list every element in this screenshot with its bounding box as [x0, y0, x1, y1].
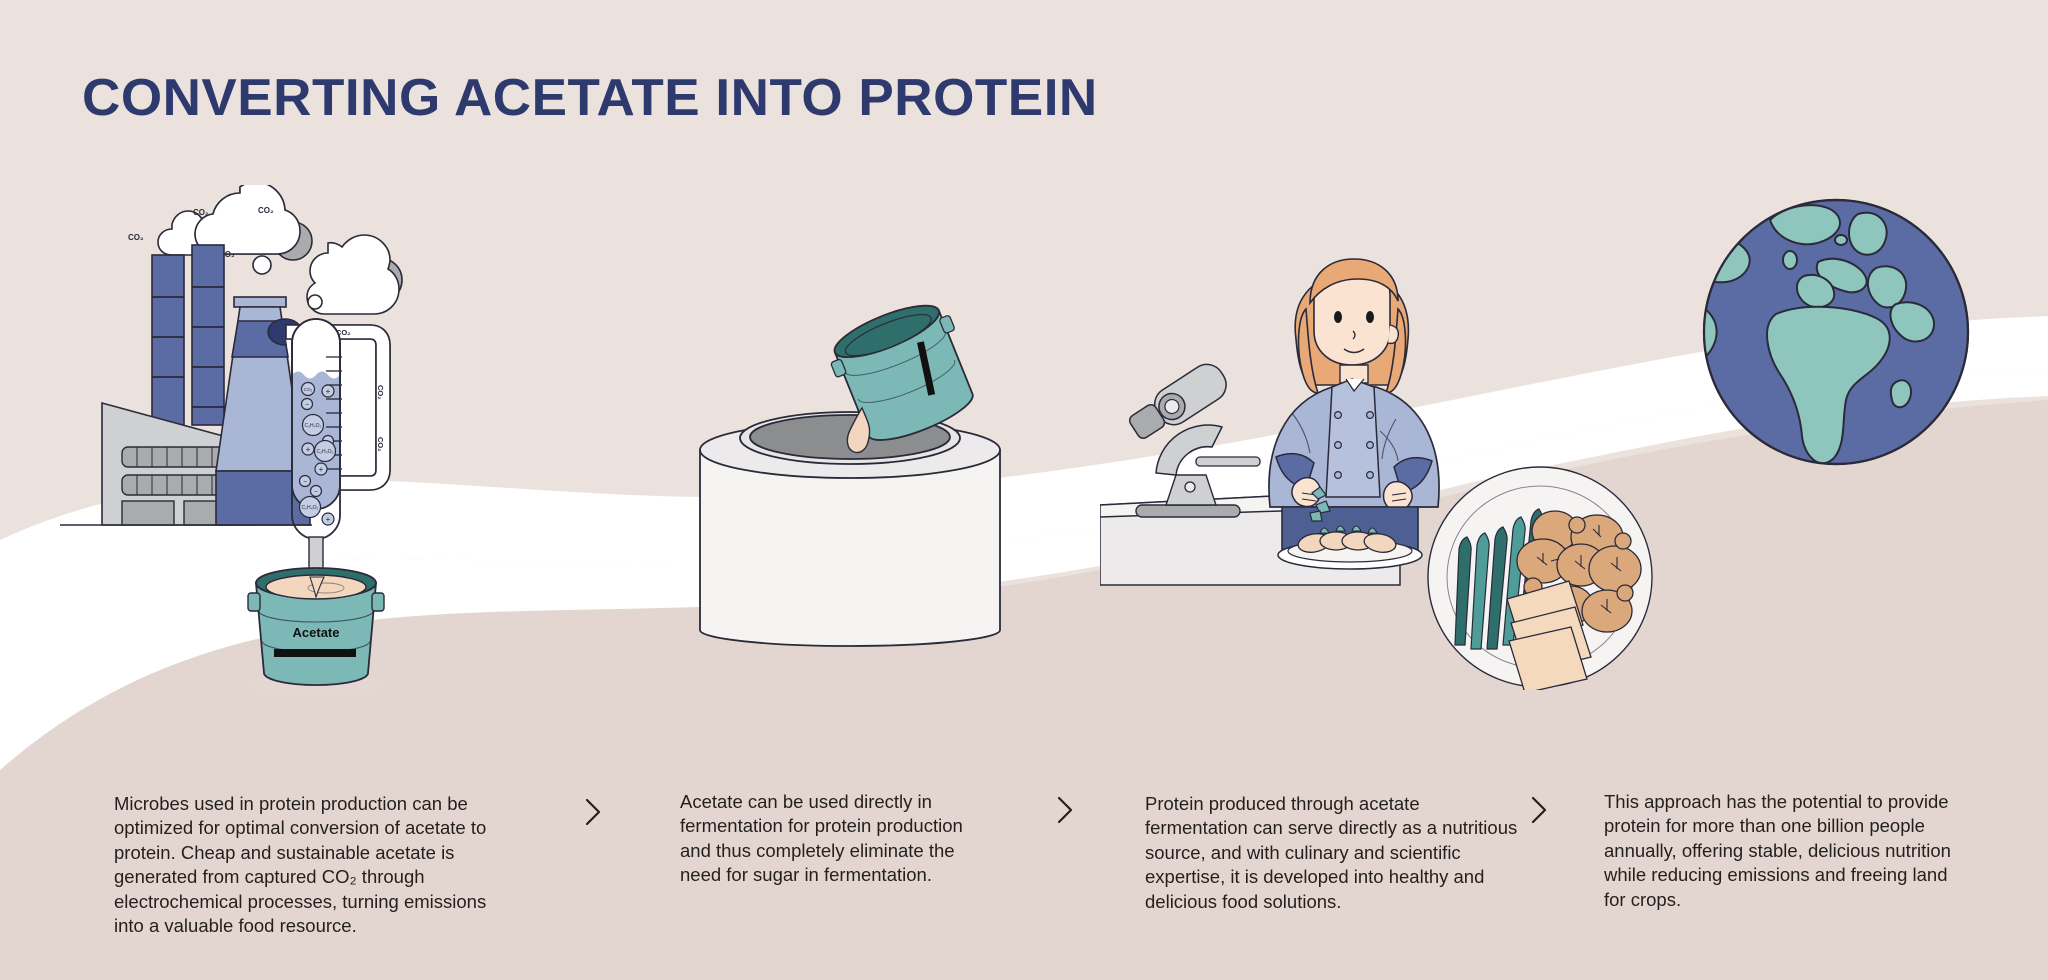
caption-step-4: This approach has the potential to provi… — [1604, 790, 1966, 912]
electrolysis-test-tube: CO₂ − + C₂H₄O₂ − + C₂H₄O₂ + − − — [292, 319, 342, 599]
illustration-factory-electrolysis: CO₂ CO₂ CO₂ CO₂ — [60, 185, 580, 725]
charge-minus-3: − — [303, 479, 307, 486]
chevron-right-icon-1 — [580, 792, 606, 832]
charge-plus-3: + — [319, 465, 324, 474]
bucket-black-bar — [274, 649, 356, 657]
caption-step-3: Protein produced through acetate ferment… — [1145, 792, 1525, 914]
co2-label-pipe-4: CO₂ — [376, 437, 385, 452]
chimney-stacks — [152, 245, 224, 425]
caption-step-2: Acetate can be used directly in fermenta… — [680, 790, 992, 888]
chevron-right-icon-3 — [1526, 790, 1552, 830]
charge-minus-4: − — [314, 489, 318, 496]
molecule-co2-1: CO₂ — [304, 387, 313, 392]
illustration-fermentation-tank — [680, 290, 1020, 660]
page-title: CONVERTING ACETATE INTO PROTEIN — [82, 68, 1098, 128]
co2-label-smoke-2: CO₂ — [193, 208, 209, 217]
charge-minus-1: − — [305, 402, 309, 409]
charge-plus-1: + — [326, 387, 331, 396]
illustration-food-plate — [1425, 465, 1655, 690]
molecule-acetate-3: C₂H₄O₂ — [301, 505, 318, 511]
charge-plus-2: + — [306, 445, 311, 454]
molecule-acetate-1: C₂H₄O₂ — [304, 423, 321, 429]
bucket-label-acetate: Acetate — [293, 625, 340, 640]
co2-label-smoke-3: CO₂ — [258, 206, 274, 215]
microscope — [1125, 358, 1260, 517]
chevron-right-icon-2 — [1052, 790, 1078, 830]
caption-step-1: Microbes used in protein production can … — [114, 792, 514, 938]
molecule-acetate-2: C₂H₄O₂ — [316, 449, 333, 455]
acetate-bucket: Acetate — [248, 568, 384, 697]
co2-label-smoke-1: CO₂ — [128, 233, 144, 242]
caption-row: Microbes used in protein production can … — [0, 782, 2048, 972]
charge-plus-4: + — [326, 515, 331, 524]
chef-character — [1269, 259, 1439, 551]
infographic-canvas: CONVERTING ACETATE INTO PROTEIN CO₂ CO₂ … — [0, 0, 2048, 980]
illustration-globe — [1700, 196, 1972, 468]
co2-label-pipe-3: CO₂ — [376, 385, 385, 400]
